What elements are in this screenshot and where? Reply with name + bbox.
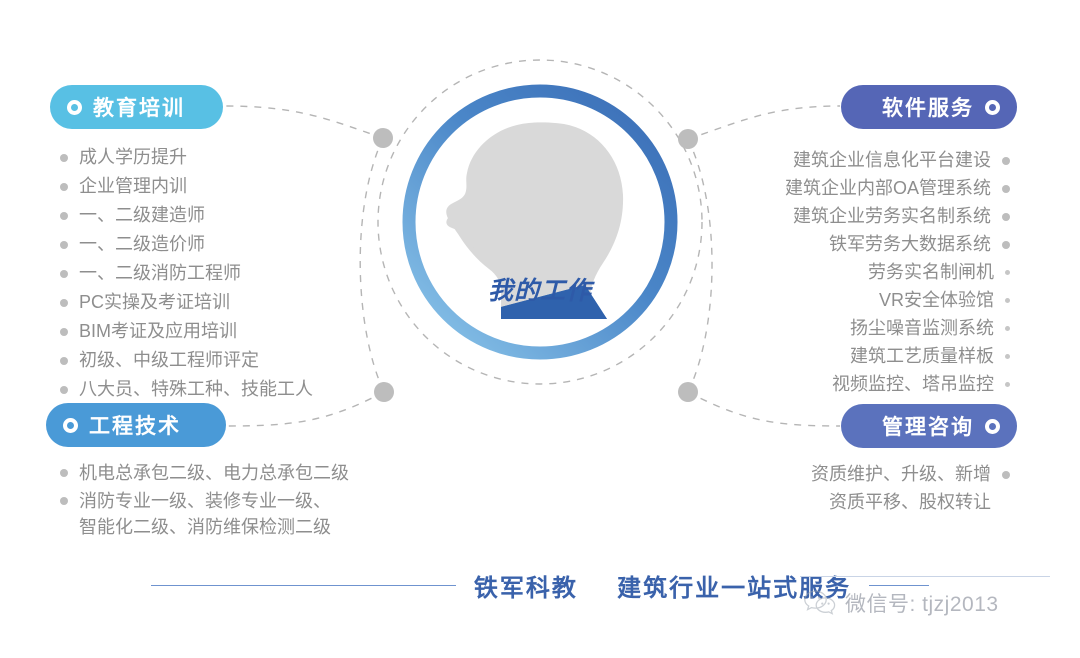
footer-rule-left [151,585,456,586]
list-item-label: 建筑企业劳务实名制系统 [793,204,991,229]
list-item-label: 视频监控、塔吊监控 [832,372,994,397]
list-item-label: 资质平移、股权转让 [829,490,991,515]
bullet-dot-icon [1005,270,1010,275]
bullet-dot-icon [1002,157,1010,165]
ring-dot-icon [985,100,1000,115]
list-item-label: 铁军劳务大数据系统 [829,232,991,257]
bullet-dot-icon [1002,471,1010,479]
bullet-dot-icon [1002,213,1010,221]
bullet-dot-icon [1005,298,1010,303]
wechat-icon [803,589,837,617]
bullet-dot-icon [1005,326,1010,331]
connector-node-education [373,128,393,148]
watermark-text: 微信号: tjzj2013 [845,588,999,618]
list-item-label: 建筑企业内部OA管理系统 [785,176,991,201]
section-pill-education[interactable]: 教育培训 [50,85,223,129]
list-item: 铁军劳务大数据系统 [0,232,1010,257]
section-title-software: 软件服务 [882,92,974,122]
list-item: 建筑企业内部OA管理系统 [0,176,1010,201]
list-item: 建筑企业劳务实名制系统 [0,204,1010,229]
list-item: 建筑工艺质量样板 [0,344,1010,369]
list-item: VR安全体验馆 [0,288,1010,313]
list-item-label: 劳务实名制闸机 [868,260,994,285]
ring-dot-icon [63,418,78,433]
connector-edu [224,106,383,138]
section-title-education: 教育培训 [93,92,185,122]
list-item: 建筑企业信息化平台建设 [0,148,1010,173]
section-pill-management[interactable]: 管理咨询 [841,404,1017,448]
bullet-dot-icon [1005,354,1010,359]
bullet-dot-icon [1002,185,1010,193]
bullet-dot-icon [1002,241,1010,249]
watermark-rule [800,576,1050,577]
section-pill-software[interactable]: 软件服务 [841,85,1017,129]
list-item-label: VR安全体验馆 [879,288,994,313]
list-item-label: 扬尘噪音监测系统 [850,316,994,341]
list-item: 资质维护、升级、新增 [0,462,1010,487]
list-item: 资质平移、股权转让 [0,490,1010,515]
section-title-management: 管理咨询 [882,411,974,441]
footer-brand: 铁军科教 [474,575,578,602]
list-item-label: 建筑工艺质量样板 [850,344,994,369]
list-item: 扬尘噪音监测系统 [0,316,1010,341]
wechat-watermark: 微信号: tjzj2013 [795,572,1080,634]
bullet-dot-icon [1005,382,1010,387]
section-list-management: 资质维护、升级、新增资质平移、股权转让 [0,462,1010,518]
ring-dot-icon [67,100,82,115]
list-item-label: 资质维护、升级、新增 [811,462,991,487]
infographic-canvas: 我的工作 教育培训 工程技术 软件服务 管理咨询 成人学历提升企业管理内训一、二… [0,0,1080,658]
section-list-software: 建筑企业信息化平台建设建筑企业内部OA管理系统建筑企业劳务实名制系统铁军劳务大数… [0,148,1010,400]
ring-dot-icon [985,419,1000,434]
section-title-engineering: 工程技术 [89,410,181,440]
list-item: 劳务实名制闸机 [0,260,1010,285]
section-pill-engineering[interactable]: 工程技术 [46,403,226,447]
list-item-label: 建筑企业信息化平台建设 [793,148,991,173]
list-item: 视频监控、塔吊监控 [0,372,1010,397]
connector-soft [688,106,840,139]
